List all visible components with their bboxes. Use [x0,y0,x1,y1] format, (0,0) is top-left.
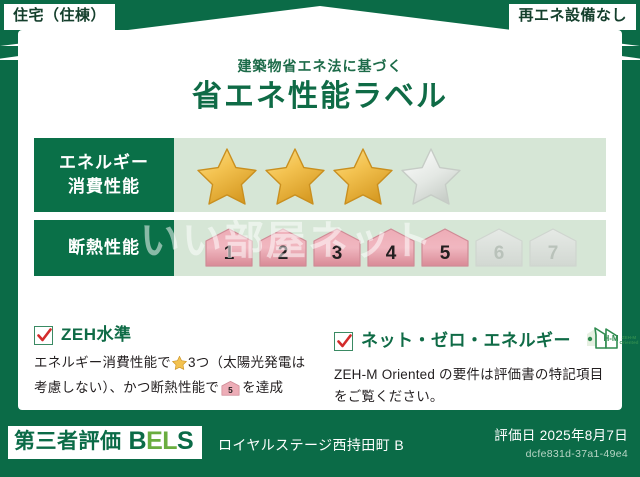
bels-letter-el: EL [146,427,177,455]
criteria-header-net-zero-energy: ネット・ゼロ・エネルギー H-M ZEH-M Oriented [334,326,614,357]
house-badge-2: 2 [258,228,308,268]
criteria-section: ZEH水準 エネルギー消費性能で3つ（太陽光発電は考慮しない）、かつ断熱性能で5… [34,326,614,408]
house-badge-4: 4 [366,228,416,268]
star-icon-inline [172,358,187,373]
house-badge-7: 7 [528,228,578,268]
criteria-column-zeh: ZEH水準 エネルギー消費性能で3つ（太陽光発電は考慮しない）、かつ断熱性能で5… [34,326,324,408]
zeh-m-oriented-logo-icon: H-M ZEH-M Oriented [583,326,640,357]
header-tag-row: 住宅（住棟） 再エネ設備なし [0,0,640,34]
evaluation-id: dcfe831d-37a1-49e4 [494,448,628,460]
star-icon-filled-3 [332,145,394,205]
metric-label-energy-consumption: エネルギー 消費性能 [34,138,174,212]
house-badge-1: 1 [204,228,254,268]
house-badge-label: 1 [224,244,235,268]
label-inner-panel: 建築物省エネ法に基づく 省エネ性能ラベル エネルギー 消費性能 [18,30,622,410]
criteria-body-zeh: エネルギー消費性能で3つ（太陽光発電は考慮しない）、かつ断熱性能で5を達成 [34,352,312,403]
house-badge-label: 5 [440,244,451,268]
house-badge-label: 3 [332,244,343,268]
page-title: 省エネ性能ラベル [18,80,622,115]
building-name: ロイヤルステージ西持田町 B [218,435,404,455]
house-badge-label: 7 [548,244,559,268]
metric-label-insulation: 断熱性能 [34,220,174,276]
metric-label-line2: 消費性能 [68,175,140,199]
evaluation-date: 評価日 2025年8月7日 [494,427,628,445]
star-icon-empty-4 [400,145,462,205]
svg-text:5: 5 [228,386,233,395]
criteria-column-net-zero-energy: ネット・ゼロ・エネルギー H-M ZEH-M Oriented Z [324,326,614,408]
title-block: 建築物省エネ法に基づく 省エネ性能ラベル [18,58,622,114]
star-icon-filled-1 [196,145,258,205]
metrics-section: エネルギー 消費性能 [34,138,606,284]
checkbox-zeh-checked[interactable] [34,326,53,345]
star-icon-filled-2 [264,145,326,205]
metric-value-insulation: 1 2 3 [174,220,606,276]
metric-value-energy-consumption [174,138,606,212]
criteria-title-zeh: ZEH水準 [61,326,132,345]
house-badge-label: 2 [278,244,289,268]
evaluation-date-value: 2025年8月7日 [540,428,628,443]
evaluation-date-label: 評価日 [494,428,535,443]
house-badge-inline: 5 [221,384,240,399]
header-tag-renewable-equipment: 再エネ設備なし [509,4,636,30]
title-subtitle: 建築物省エネ法に基づく [18,58,622,75]
metric-row-energy-consumption: エネルギー 消費性能 [34,138,606,212]
house-badge-5: 5 [420,228,470,268]
criteria-header-zeh: ZEH水準 [34,326,312,345]
bels-letter-b: B [129,427,147,455]
evaluation-info: 評価日 2025年8月7日 dcfe831d-37a1-49e4 [494,427,628,460]
header-tag-dwelling-type: 住宅（住棟） [4,4,115,30]
energy-performance-label: 建築物省エネ法に基づく 省エネ性能ラベル エネルギー 消費性能 [0,0,640,477]
bels-letter-s: S [177,427,193,455]
house-badge-label: 6 [494,244,505,268]
house-badge-3: 3 [312,228,362,268]
star-rating [196,145,462,205]
svg-text:H-M: H-M [603,334,618,343]
criteria-title-net-zero-energy: ネット・ゼロ・エネルギー [361,332,571,351]
checkbox-net-zero-energy-checked[interactable] [334,332,353,351]
metric-label-line1: 断熱性能 [68,236,140,260]
bels-logo-box: 第三者評価 BELS [8,426,202,459]
criteria-body-text-part1: エネルギー消費性能で [34,355,171,370]
svg-text:Oriented: Oriented [620,340,639,345]
metric-row-insulation: 断熱性能 [34,220,606,276]
criteria-body-net-zero-energy: ZEH-M Oriented の要件は評価書の特記項目をご覧ください。 [334,364,614,408]
footer-bar: 第三者評価 BELS ロイヤルステージ西持田町 B 評価日 2025年8月7日 … [0,415,640,477]
insulation-grade-scale: 1 2 3 [204,228,578,268]
bels-logo-text: BELS [129,428,194,456]
house-badge-label: 4 [386,244,397,268]
bels-japanese-label: 第三者評価 [14,430,122,454]
criteria-body-text-part3: を達成 [242,380,283,395]
metric-label-line1: エネルギー [59,151,149,175]
house-badge-6: 6 [474,228,524,268]
